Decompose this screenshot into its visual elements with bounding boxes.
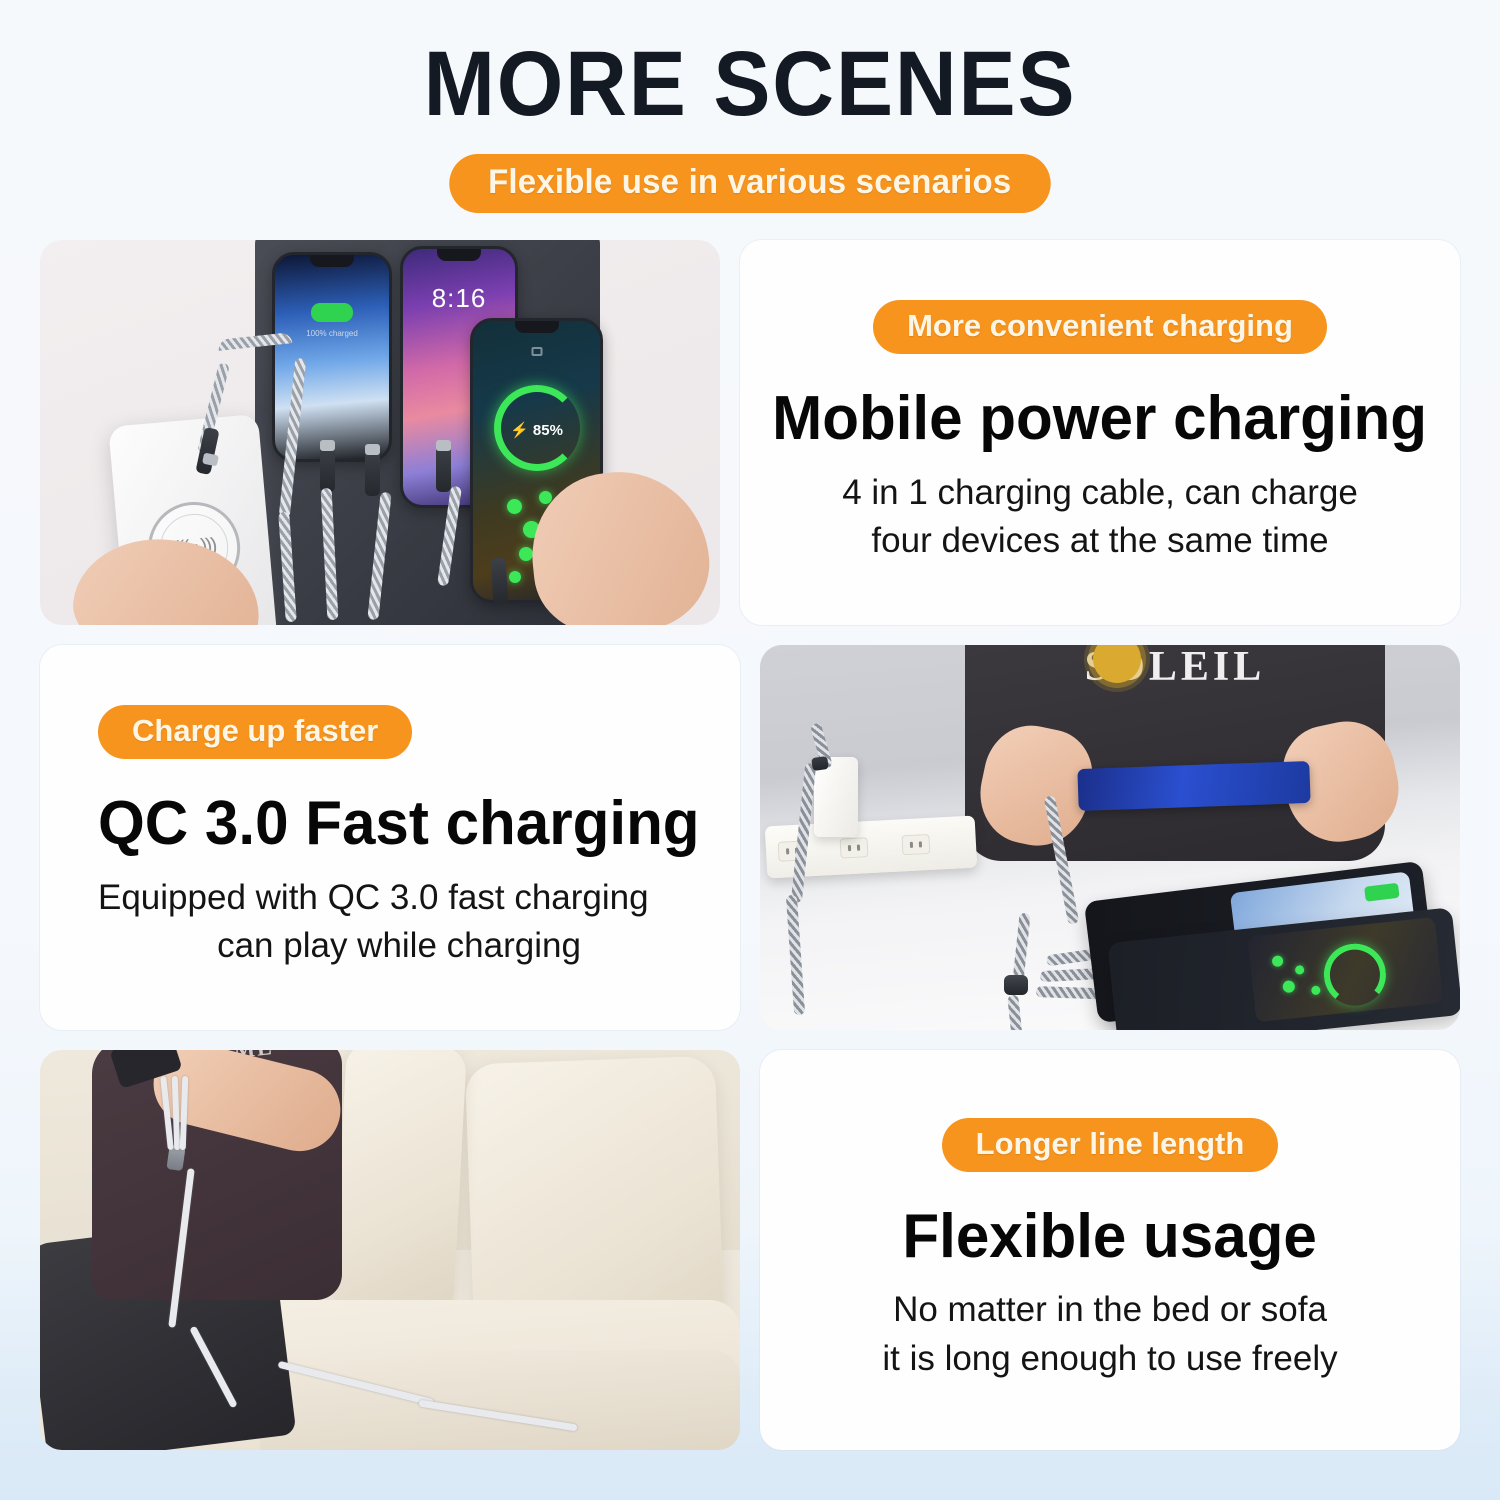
charge-ring-icon bbox=[1321, 941, 1389, 1009]
cable-segment bbox=[1007, 995, 1024, 1030]
cable-connector bbox=[320, 446, 335, 492]
infographic-page: MORE SCENES Flexible use in various scen… bbox=[0, 0, 1500, 1500]
phone-c-charge: ⚡ 85% bbox=[510, 421, 563, 439]
phone-a-status: 100% charged bbox=[306, 329, 358, 338]
page-title: MORE SCENES bbox=[53, 38, 1448, 130]
subtitle-badge: Flexible use in various scenarios bbox=[450, 154, 1051, 213]
feature-badge: Charge up faster bbox=[98, 705, 412, 759]
sofa-seat-front bbox=[260, 1350, 740, 1450]
cable-connector bbox=[811, 756, 829, 771]
scene-person-on-sofa-using-long-cable: ML bbox=[40, 1050, 740, 1450]
cable-collar bbox=[320, 440, 335, 451]
feature-headline: Flexible usage bbox=[903, 1204, 1317, 1269]
bubble-decor bbox=[1282, 980, 1295, 993]
cable-connector-usbc bbox=[490, 558, 508, 605]
feature-headline: QC 3.0 Fast charging bbox=[98, 791, 700, 856]
cable-connector bbox=[365, 450, 380, 496]
bubble-decor bbox=[509, 571, 521, 583]
bubble-decor bbox=[1311, 985, 1321, 995]
battery-pill-icon bbox=[311, 303, 353, 322]
feature-description-line-2: it is long enough to use freely bbox=[882, 1336, 1337, 1383]
phone-notch bbox=[310, 255, 354, 267]
feature-row-3: ML Longer line length Flexible usage No … bbox=[40, 1050, 1460, 1450]
feature-rows: 100% charged 8:16 ⚡ 85% bbox=[40, 240, 1460, 1470]
power-socket bbox=[840, 837, 869, 858]
feature-badge: Longer line length bbox=[942, 1118, 1279, 1172]
feature-description-line-1: 4 in 1 charging cable, can charge bbox=[842, 470, 1358, 517]
cable-splitter-node bbox=[1004, 975, 1028, 995]
phone-screen-charging bbox=[1247, 917, 1443, 1022]
bubble-decor bbox=[519, 547, 533, 561]
cable-collar bbox=[436, 440, 451, 451]
feature-description-line-2: can play while charging bbox=[217, 923, 581, 970]
phone-notch bbox=[515, 321, 559, 333]
feature-row-1: 100% charged 8:16 ⚡ 85% bbox=[40, 240, 1460, 625]
phone-notch bbox=[437, 249, 481, 261]
cable-segment bbox=[1012, 913, 1030, 984]
feature-card-mobile-power-charging: More convenient charging Mobile power ch… bbox=[740, 240, 1460, 625]
bubble-decor bbox=[1272, 955, 1284, 967]
scene-power-bank-charging-three-phones: 100% charged 8:16 ⚡ 85% bbox=[40, 240, 720, 625]
cable-collar bbox=[365, 444, 380, 455]
feature-card-flexible-usage: Longer line length Flexible usage No mat… bbox=[760, 1050, 1460, 1450]
feature-headline: Mobile power charging bbox=[773, 386, 1428, 451]
sofa-cushion-left bbox=[333, 1050, 467, 1317]
feature-description-line-1: No matter in the bed or sofa bbox=[893, 1287, 1327, 1334]
battery-indicator-icon bbox=[1364, 883, 1400, 902]
scene-person-gaming-while-charging: SOLEIL bbox=[760, 645, 1460, 1030]
bubble-decor bbox=[1295, 965, 1305, 975]
feature-description-line-1: Equipped with QC 3.0 fast charging bbox=[98, 875, 649, 922]
phone-b-clock: 8:16 bbox=[432, 283, 487, 314]
feature-badge: More convenient charging bbox=[873, 300, 1327, 354]
bubble-decor bbox=[507, 499, 522, 514]
cable-segment bbox=[786, 895, 805, 1015]
lock-icon bbox=[531, 347, 542, 356]
power-socket bbox=[901, 834, 930, 855]
feature-card-qc-fast-charging: Charge up faster QC 3.0 Fast charging Eq… bbox=[40, 645, 740, 1030]
phone-gaming-blue bbox=[1077, 761, 1310, 811]
feature-description-line-2: four devices at the same time bbox=[871, 518, 1328, 565]
feature-row-2: Charge up faster QC 3.0 Fast charging Eq… bbox=[40, 645, 1460, 1030]
header: MORE SCENES Flexible use in various scen… bbox=[0, 0, 1500, 213]
cable-connector bbox=[436, 446, 451, 492]
